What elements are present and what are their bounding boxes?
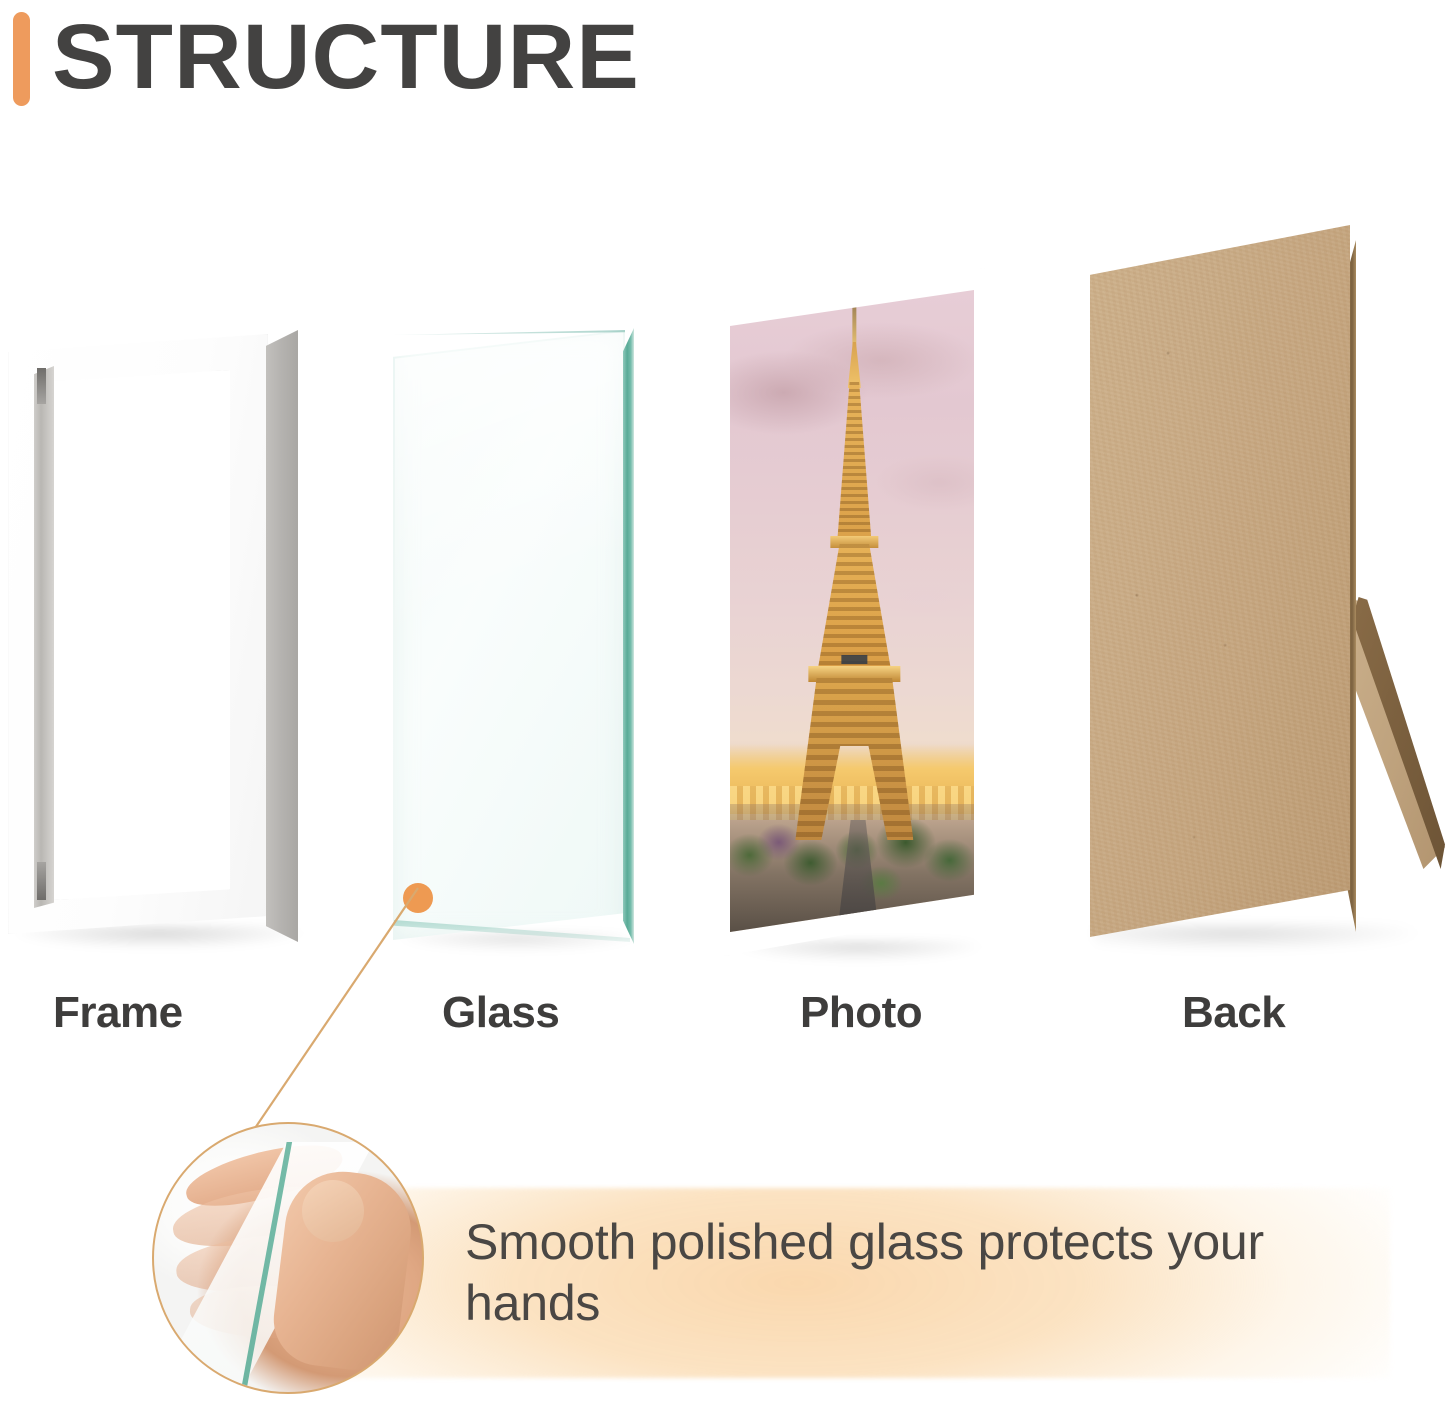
tower-middle-section <box>817 544 891 672</box>
callout-dot-icon <box>403 883 433 913</box>
eiffel-tower-icon <box>795 290 913 840</box>
tower-upper-section <box>837 382 871 540</box>
product-part-frame <box>8 310 318 950</box>
hand-detail-photo <box>152 1122 424 1394</box>
part-label-back: Back <box>1182 988 1285 1038</box>
glass-side-edge <box>623 328 634 944</box>
eiffel-tower-image <box>730 290 974 932</box>
frame-window-opening <box>52 370 230 900</box>
back-shadow <box>1095 925 1425 951</box>
frame-rabbet-shadow-bottom <box>37 862 46 900</box>
product-part-glass <box>385 308 675 958</box>
detail-caption: Smooth polished glass protects your hand… <box>465 1212 1325 1334</box>
tower-top <box>848 342 861 388</box>
detail-callout-band: Smooth polished glass protects your hand… <box>0 1150 1445 1414</box>
part-label-frame: Frame <box>53 988 183 1038</box>
glass-pane <box>393 330 625 940</box>
tower-legs-arch <box>795 678 913 840</box>
part-label-photo: Photo <box>800 988 922 1038</box>
product-part-back <box>1075 225 1445 965</box>
structure-infographic: STRUCTURE <box>0 0 1445 1414</box>
title-accent-bar <box>13 12 30 106</box>
tower-sign <box>841 655 867 664</box>
part-label-glass: Glass <box>442 988 559 1038</box>
frame-rabbet-shadow-top <box>37 368 46 404</box>
frame-inner-rabbet <box>34 366 54 908</box>
product-part-photo <box>718 268 998 968</box>
page-title: STRUCTURE <box>52 5 640 109</box>
back-board-face <box>1090 225 1350 937</box>
page-title-block: STRUCTURE <box>0 0 1445 130</box>
frame-side-edge <box>266 330 298 942</box>
